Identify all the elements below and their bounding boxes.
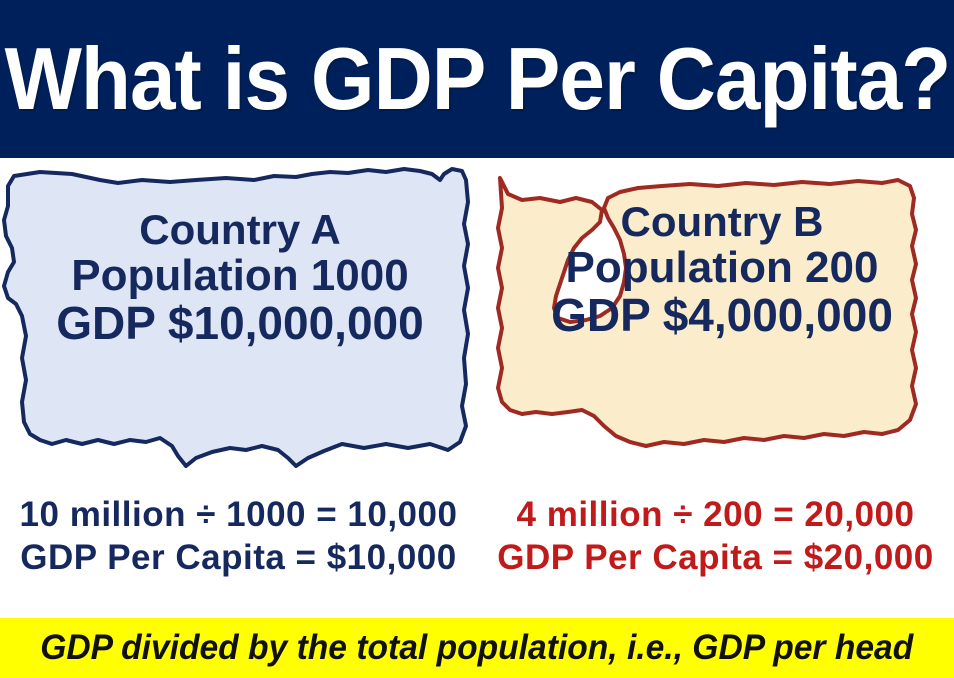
country-a-gdp: GDP $10,000,000	[20, 299, 460, 348]
calculations-layer: 10 million ÷ 1000 = 10,000 GDP Per Capit…	[0, 468, 954, 618]
country-b-gdp: GDP $4,000,000	[512, 291, 932, 340]
country-b-labels: Country B Population 200 GDP $4,000,000	[512, 200, 932, 340]
country-a-calculations: 10 million ÷ 1000 = 10,000 GDP Per Capit…	[0, 468, 477, 618]
infographic-page: What is GDP Per Capita? Country A Popula…	[0, 0, 954, 678]
footer-banner: GDP divided by the total population, i.e…	[0, 618, 954, 678]
country-shapes-layer: Country A Population 1000 GDP $10,000,00…	[0, 158, 954, 468]
country-a-population: Population 1000	[20, 253, 460, 300]
header-banner: What is GDP Per Capita?	[0, 0, 954, 158]
footer-definition-text: GDP divided by the total population, i.e…	[40, 628, 913, 668]
country-a-calc-result: GDP Per Capita = $10,000	[0, 537, 477, 580]
country-b-population: Population 200	[512, 245, 932, 292]
country-a-name: Country A	[20, 208, 460, 253]
country-b-calc-division: 4 million ÷ 200 = 20,000	[477, 494, 954, 537]
country-b-calc-result: GDP Per Capita = $20,000	[477, 537, 954, 580]
country-a-calc-division: 10 million ÷ 1000 = 10,000	[0, 494, 477, 537]
country-b-name: Country B	[512, 200, 932, 245]
country-a-labels: Country A Population 1000 GDP $10,000,00…	[20, 208, 460, 348]
country-b-calculations: 4 million ÷ 200 = 20,000 GDP Per Capita …	[477, 468, 954, 618]
page-title: What is GDP Per Capita?	[4, 35, 950, 123]
